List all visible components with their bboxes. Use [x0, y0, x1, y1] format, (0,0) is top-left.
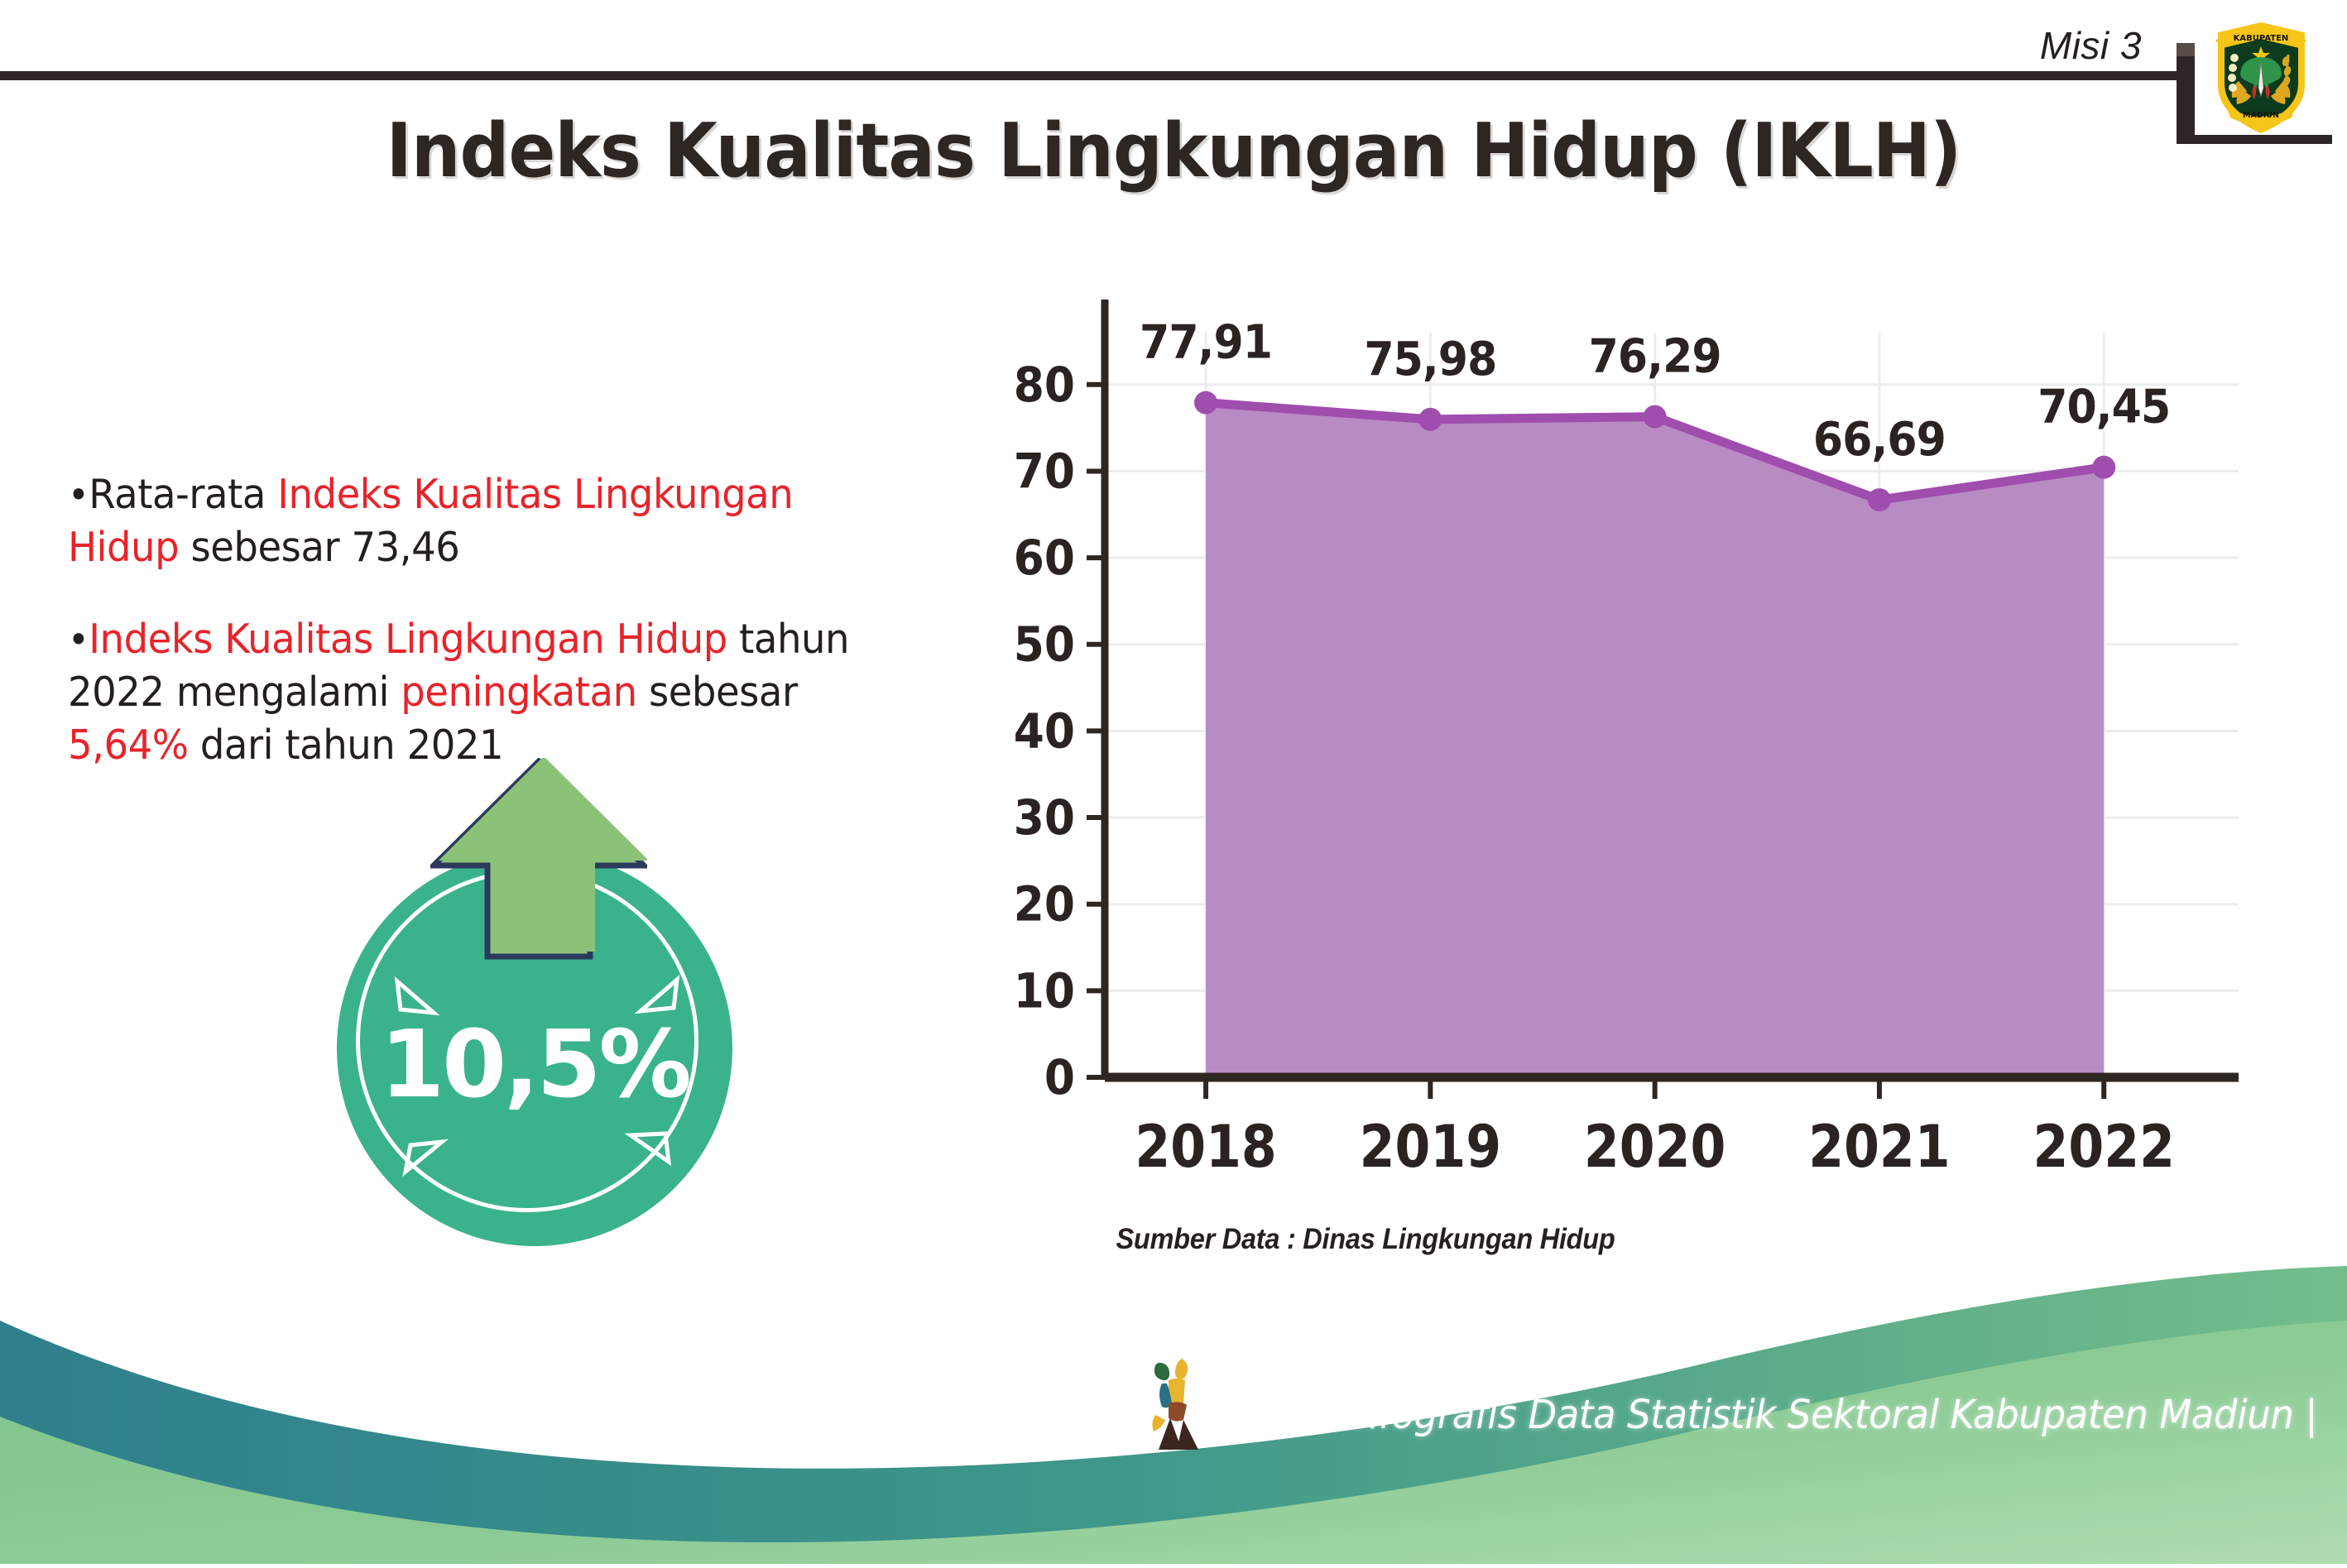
y-axis-tick-label: 20 [1014, 877, 1075, 933]
plain-text: Rata-rata [89, 471, 277, 518]
bullet-marker-icon: • [68, 472, 89, 517]
bullet-text-1: Indeks Kualitas Lingkungan Hidup tahun 2… [68, 616, 849, 768]
emblem-top-text: KABUPATEN [2234, 34, 2289, 43]
data-point-marker [1868, 488, 1891, 511]
data-point-marker [2092, 456, 2115, 479]
chart-area-fill [1206, 403, 2104, 1077]
plain-text: sebesar [637, 669, 798, 716]
x-axis-tick-label: 2019 [1360, 1113, 1501, 1181]
bullet-marker-icon: • [68, 617, 89, 662]
y-axis-tick-label: 70 [1014, 444, 1075, 500]
data-point-marker [1194, 391, 1217, 415]
x-axis-tick-label: 2021 [1808, 1113, 1950, 1181]
data-point-marker [1418, 408, 1442, 431]
arrow-up-icon [430, 758, 647, 963]
x-axis-tick-label: 2022 [2033, 1113, 2175, 1181]
increase-badge: 10,5% [329, 758, 760, 1221]
header-corner-bracket-bevel [2177, 43, 2195, 56]
badge-value: 10,5% [337, 1011, 732, 1119]
badge-tick-bottom-right-icon [624, 1129, 675, 1168]
x-axis-tick-label: 2020 [1584, 1113, 1725, 1181]
badge-tick-bottom-left-icon [399, 1139, 450, 1178]
x-axis-tick-label: 2018 [1135, 1113, 1276, 1181]
iklh-area-chart: 77,9175,9876,2966,6970,45010203040506070… [981, 291, 2272, 1201]
page-title: Indeks Kualitas Lingkungan Hidup (IKLH) [82, 108, 2264, 194]
y-axis-tick-label: 10 [1014, 963, 1075, 1019]
data-label: 75,98 [1364, 332, 1496, 386]
data-label: 66,69 [1813, 412, 1946, 466]
chart-source-caption: Sumber Data : Dinas Lingkungan Hidup [1088, 1223, 1643, 1256]
y-axis-tick-label: 60 [1014, 530, 1075, 587]
bullet-text-0: Rata-rata Indeks Kualitas Lingkungan Hid… [68, 471, 793, 571]
y-axis-tick-label: 80 [1014, 357, 1075, 414]
y-axis-tick-label: 40 [1014, 703, 1075, 760]
list-item: •Indeks Kualitas Lingkungan Hidup tahun … [68, 613, 910, 771]
data-label: 76,29 [1589, 329, 1721, 383]
y-axis-tick-label: 0 [1044, 1050, 1075, 1106]
highlight-text: peningkatan [401, 669, 636, 716]
media-infografis-logo-icon [1144, 1355, 1215, 1451]
highlight-text: Indeks Kualitas Lingkungan Hidup [89, 616, 727, 663]
badge-tick-top-right-icon [632, 975, 684, 1014]
data-label: 77,91 [1140, 315, 1272, 369]
plain-text: sebesar 73,46 [179, 524, 459, 571]
badge-tick-top-left-icon [391, 976, 442, 1016]
data-point-marker [1644, 405, 1667, 429]
list-item: •Rata-rata Indeks Kualitas Lingkungan Hi… [68, 468, 910, 573]
misi-label: Misi 3 [2040, 23, 2142, 68]
highlight-text: 5,64% [68, 722, 189, 769]
footer-text: Media Infografis Data Statistik Sektoral… [1223, 1392, 2317, 1438]
header-divider-rule [0, 71, 2183, 80]
y-axis-tick-label: 30 [1014, 790, 1075, 846]
data-label: 70,45 [2037, 380, 2170, 434]
y-axis-tick-label: 50 [1014, 617, 1075, 674]
